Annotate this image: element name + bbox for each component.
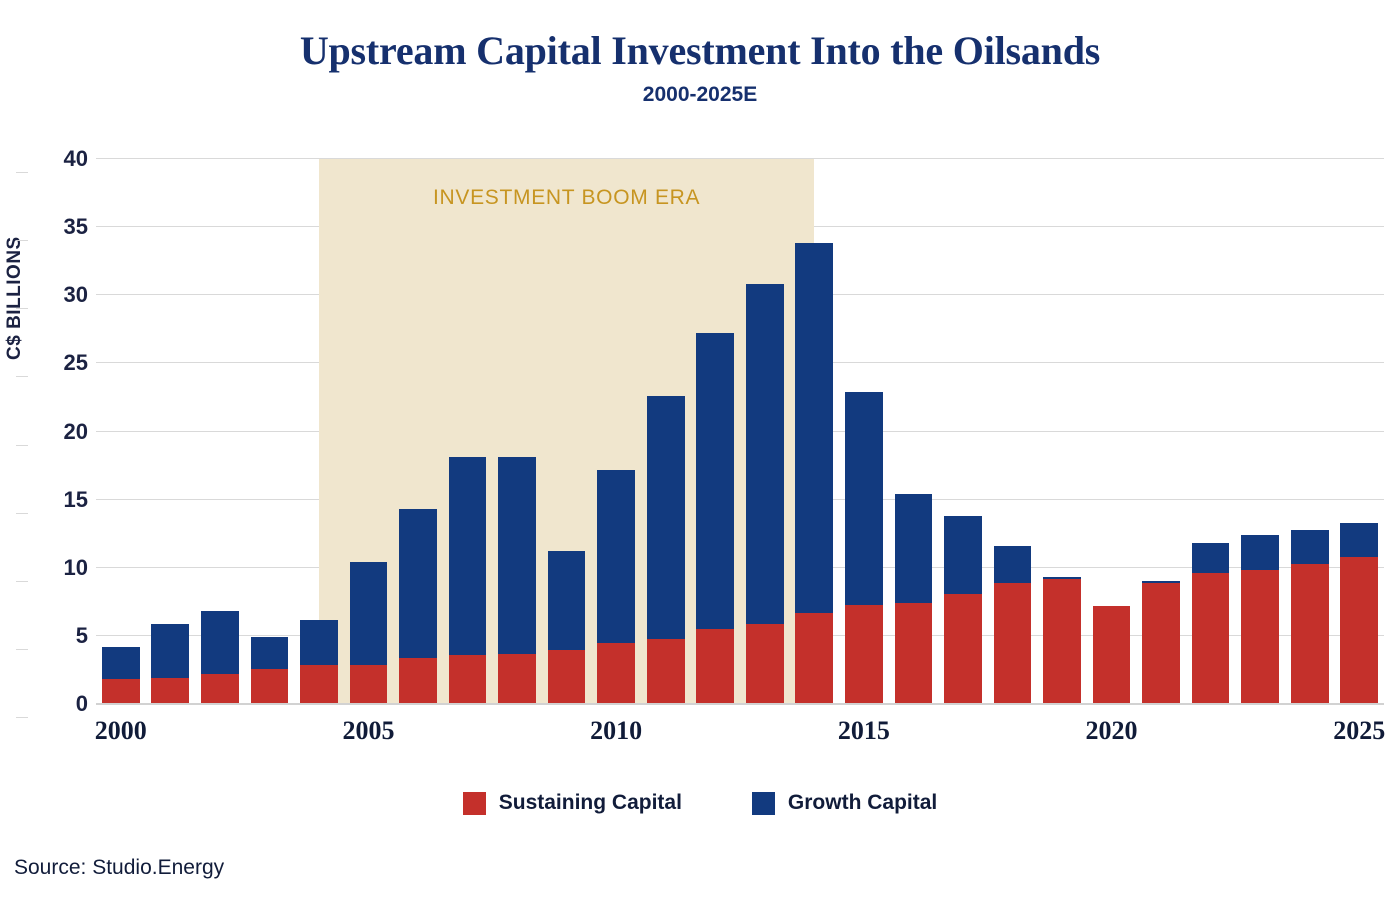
bar-segment-sustaining[interactable] xyxy=(1241,570,1279,704)
y-axis-tick-mark xyxy=(16,376,28,377)
bar-segment-growth[interactable] xyxy=(1142,581,1180,582)
bar-segment-sustaining[interactable] xyxy=(1291,564,1329,704)
x-axis-tick-label: 2015 xyxy=(794,716,934,746)
bar-segment-growth[interactable] xyxy=(548,551,586,649)
y-axis-tick-mark xyxy=(16,649,28,650)
bar-segment-growth[interactable] xyxy=(647,396,685,639)
bar-group[interactable] xyxy=(251,159,289,704)
plot-area: INVESTMENT BOOM ERA xyxy=(96,159,1384,704)
bar-group[interactable] xyxy=(399,159,437,704)
bar-segment-sustaining[interactable] xyxy=(449,655,487,704)
legend-item[interactable]: Sustaining Capital xyxy=(463,791,682,815)
bar-group[interactable] xyxy=(1142,159,1180,704)
bar-segment-sustaining[interactable] xyxy=(795,613,833,704)
bar-segment-growth[interactable] xyxy=(845,392,883,605)
bar-group[interactable] xyxy=(498,159,536,704)
bar-segment-growth[interactable] xyxy=(300,620,338,665)
bar-segment-growth[interactable] xyxy=(201,611,239,674)
bar-segment-growth[interactable] xyxy=(1192,543,1230,573)
bar-group[interactable] xyxy=(350,159,388,704)
bar-segment-growth[interactable] xyxy=(399,509,437,658)
bar-group[interactable] xyxy=(647,159,685,704)
bar-segment-growth[interactable] xyxy=(795,243,833,612)
bar-group[interactable] xyxy=(994,159,1032,704)
bar-group[interactable] xyxy=(696,159,734,704)
y-axis-tick-label: 15 xyxy=(28,487,88,513)
bar-segment-growth[interactable] xyxy=(350,562,388,664)
y-axis-tick-label: 35 xyxy=(28,214,88,240)
source-note: Source: Studio.Energy xyxy=(14,856,224,880)
bar-segment-sustaining[interactable] xyxy=(746,624,784,704)
y-axis-label: C$ BILLIONS xyxy=(4,236,26,360)
bar-group[interactable] xyxy=(449,159,487,704)
bar-segment-growth[interactable] xyxy=(102,647,140,680)
bar-segment-sustaining[interactable] xyxy=(498,654,536,704)
chart-legend: Sustaining CapitalGrowth Capital xyxy=(0,791,1400,815)
page-title: Upstream Capital Investment Into the Oil… xyxy=(0,27,1400,74)
legend-label: Growth Capital xyxy=(788,791,937,815)
y-axis-tick-label: 40 xyxy=(28,146,88,172)
y-axis-tick-label: 25 xyxy=(28,350,88,376)
y-axis-tick-mark xyxy=(16,172,28,173)
y-axis-tick-mark xyxy=(16,513,28,514)
bar-group[interactable] xyxy=(1093,159,1131,704)
bar-group[interactable] xyxy=(300,159,338,704)
bar-group[interactable] xyxy=(1340,159,1378,704)
chart-figure: Upstream Capital Investment Into the Oil… xyxy=(0,0,1400,899)
y-axis-tick-mark xyxy=(16,240,28,241)
bar-group[interactable] xyxy=(102,159,140,704)
bar-segment-sustaining[interactable] xyxy=(399,658,437,704)
bar-segment-sustaining[interactable] xyxy=(1043,579,1081,704)
bar-segment-growth[interactable] xyxy=(597,470,635,643)
bar-segment-sustaining[interactable] xyxy=(994,583,1032,704)
bar-segment-growth[interactable] xyxy=(696,333,734,629)
bar-group[interactable] xyxy=(845,159,883,704)
x-axis-tick-label: 2000 xyxy=(51,716,191,746)
bar-segment-sustaining[interactable] xyxy=(251,669,289,704)
chart-subtitle: 2000-2025E xyxy=(0,83,1400,107)
y-axis-tick-mark xyxy=(16,308,28,309)
y-axis-tick-mark xyxy=(16,445,28,446)
bar-segment-sustaining[interactable] xyxy=(300,665,338,705)
bar-group[interactable] xyxy=(795,159,833,704)
bar-segment-sustaining[interactable] xyxy=(895,603,933,704)
bar-group[interactable] xyxy=(746,159,784,704)
bar-segment-growth[interactable] xyxy=(1291,530,1329,564)
bar-segment-growth[interactable] xyxy=(1043,577,1081,578)
bar-segment-growth[interactable] xyxy=(944,516,982,594)
bar-segment-sustaining[interactable] xyxy=(1142,583,1180,704)
bar-group[interactable] xyxy=(1043,159,1081,704)
bar-group[interactable] xyxy=(151,159,189,704)
bar-segment-sustaining[interactable] xyxy=(1093,606,1131,704)
legend-label: Sustaining Capital xyxy=(499,791,682,815)
bar-group[interactable] xyxy=(1192,159,1230,704)
x-axis-tick-label: 2010 xyxy=(546,716,686,746)
bar-segment-sustaining[interactable] xyxy=(350,665,388,705)
legend-swatch-icon xyxy=(463,792,486,815)
bar-group[interactable] xyxy=(597,159,635,704)
bar-segment-growth[interactable] xyxy=(251,637,289,668)
bar-segment-growth[interactable] xyxy=(449,457,487,655)
bar-segment-sustaining[interactable] xyxy=(548,650,586,705)
bar-segment-growth[interactable] xyxy=(746,284,784,623)
bar-segment-growth[interactable] xyxy=(994,546,1032,583)
bars-layer xyxy=(96,159,1384,704)
bar-group[interactable] xyxy=(944,159,982,704)
bar-segment-sustaining[interactable] xyxy=(597,643,635,704)
bar-segment-sustaining[interactable] xyxy=(696,629,734,704)
bar-segment-growth[interactable] xyxy=(1241,535,1279,570)
bar-segment-sustaining[interactable] xyxy=(944,594,982,704)
y-axis-tick-mark xyxy=(16,581,28,582)
bar-segment-sustaining[interactable] xyxy=(151,678,189,704)
bar-segment-growth[interactable] xyxy=(151,624,189,679)
y-axis-tick-label: 30 xyxy=(28,282,88,308)
bar-segment-sustaining[interactable] xyxy=(647,639,685,704)
x-axis-tick-label: 2020 xyxy=(1042,716,1182,746)
bar-segment-sustaining[interactable] xyxy=(1340,557,1378,704)
bar-group[interactable] xyxy=(548,159,586,704)
x-axis-tick-label: 2005 xyxy=(298,716,438,746)
axis-baseline xyxy=(96,703,1384,705)
y-axis-tick-label: 20 xyxy=(28,419,88,445)
legend-item[interactable]: Growth Capital xyxy=(752,791,937,815)
y-axis-tick-mark xyxy=(16,717,28,718)
bar-segment-sustaining[interactable] xyxy=(845,605,883,704)
y-axis-tick-label: 0 xyxy=(28,691,88,717)
bar-group[interactable] xyxy=(1241,159,1279,704)
bar-segment-growth[interactable] xyxy=(498,457,536,653)
bar-segment-growth[interactable] xyxy=(895,494,933,603)
y-axis-tick-label: 10 xyxy=(28,555,88,581)
bar-group[interactable] xyxy=(895,159,933,704)
bar-segment-growth[interactable] xyxy=(1340,523,1378,557)
bar-segment-sustaining[interactable] xyxy=(201,674,239,704)
bar-segment-sustaining[interactable] xyxy=(1192,573,1230,704)
bar-group[interactable] xyxy=(1291,159,1329,704)
y-axis-tick-label: 5 xyxy=(28,623,88,649)
bar-group[interactable] xyxy=(201,159,239,704)
bar-segment-sustaining[interactable] xyxy=(102,679,140,704)
legend-swatch-icon xyxy=(752,792,775,815)
x-axis-tick-label: 2025 xyxy=(1289,716,1400,746)
